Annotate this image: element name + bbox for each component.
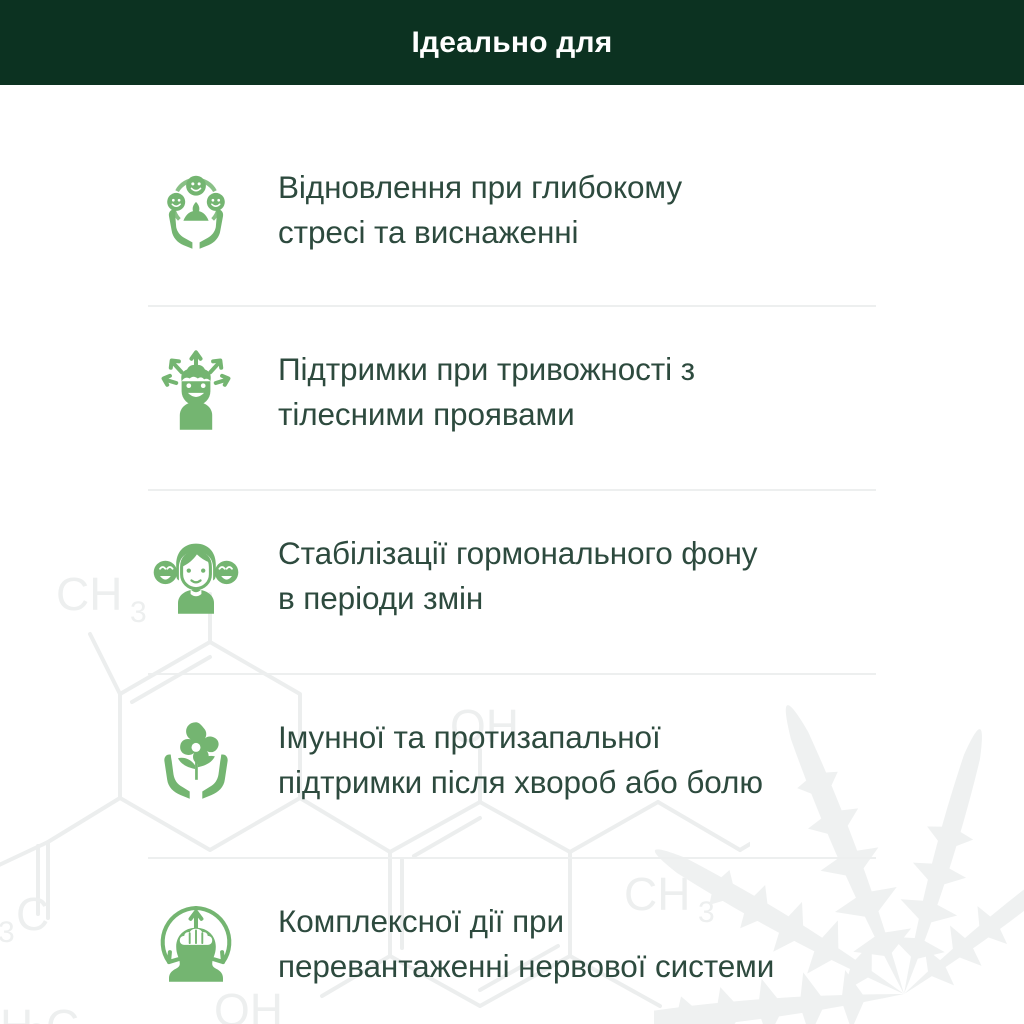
list-item[interactable]: Комплексної дії при перевантаженні нерво… xyxy=(0,869,1024,1019)
benefit-text-line-1: Комплексної дії при xyxy=(278,903,564,939)
page-title: Ідеально для xyxy=(411,28,612,58)
list-item[interactable]: Відновлення при глибокому стресі та висн… xyxy=(0,135,1024,285)
head-brain-circular-arrows-icon xyxy=(148,896,244,992)
divider xyxy=(148,857,876,859)
divider xyxy=(148,305,876,307)
benefit-text-line-2: підтримки після хвороб або болю xyxy=(278,764,763,800)
benefit-text-line-1: Відновлення при глибокому xyxy=(278,169,682,205)
hands-holding-people-smiles-icon xyxy=(148,162,244,258)
benefit-text: Стабілізації гормонального фону в період… xyxy=(278,531,757,620)
hands-holding-flower-icon xyxy=(148,712,244,808)
benefit-text-line-2: тілесними проявами xyxy=(278,396,575,432)
header-bar: Ідеально для xyxy=(0,0,1024,85)
benefit-text: Відновлення при глибокому стресі та висн… xyxy=(278,165,682,254)
benefit-text: Підтримки при тривожності з тілесними пр… xyxy=(278,347,695,436)
list-item[interactable]: Стабілізації гормонального фону в період… xyxy=(0,501,1024,651)
benefit-text: Імунної та протизапальної підтримки післ… xyxy=(278,715,763,804)
list-item[interactable]: Імунної та протизапальної підтримки післ… xyxy=(0,685,1024,835)
benefit-text-line-1: Підтримки при тривожності з xyxy=(278,351,695,387)
benefit-text-line-1: Стабілізації гормонального фону xyxy=(278,535,757,571)
benefit-text-line-2: в періоди змін xyxy=(278,580,483,616)
benefit-text-line-2: стресі та виснаженні xyxy=(278,214,578,250)
person-anxiety-arrows-icon xyxy=(148,344,244,440)
benefit-list: Відновлення при глибокому стресі та висн… xyxy=(0,135,1024,1019)
benefit-text-line-2: перевантаженні нервової системи xyxy=(278,948,774,984)
divider xyxy=(148,489,876,491)
benefit-text-line-1: Імунної та протизапальної xyxy=(278,719,661,755)
list-item[interactable]: Підтримки при тривожності з тілесними пр… xyxy=(0,317,1024,467)
woman-mood-swings-faces-icon xyxy=(148,528,244,624)
divider xyxy=(148,673,876,675)
benefit-text: Комплексної дії при перевантаженні нерво… xyxy=(278,899,774,988)
